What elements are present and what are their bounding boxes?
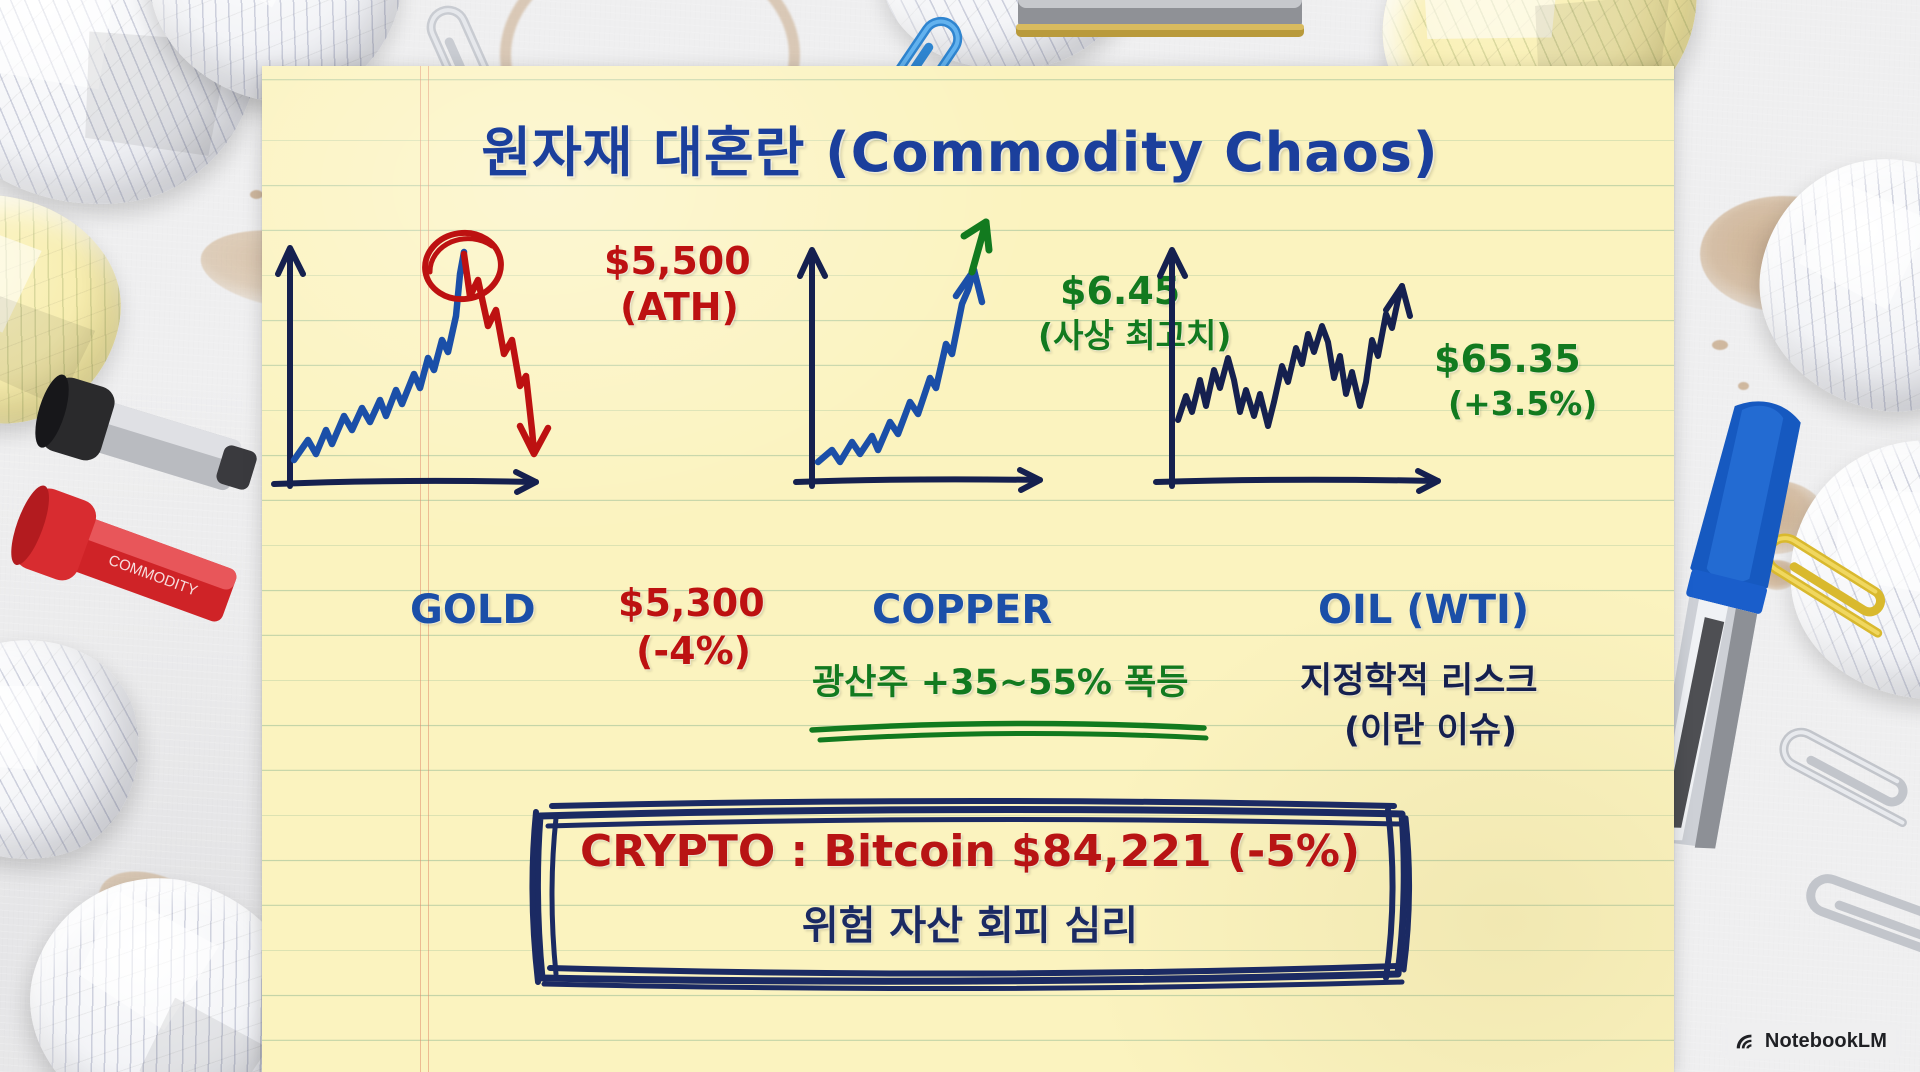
page-title: 원자재 대혼란 (Commodity Chaos): [0, 108, 1920, 187]
gold-secondary-note: (-4%): [636, 630, 751, 673]
gold-price-note: (ATH): [620, 286, 739, 329]
oil-caption-line2: (이란 이슈): [1344, 710, 1517, 752]
copper-caption-underline: [806, 714, 1216, 744]
crypto-headline: CRYPTO : Bitcoin $84,221 (-5%): [530, 826, 1410, 877]
screenshot-root: COMMODITY 원자재 대혼란 (Commodity Chaos) $5: [0, 0, 1920, 1072]
oil-price-line: [1178, 286, 1402, 426]
oil-caption-line1: 지정학적 리스크: [1300, 660, 1538, 702]
gold-x-axis: [274, 481, 536, 484]
crypto-callout-box: CRYPTO : Bitcoin $84,221 (-5%) 위험 자산 회피 …: [530, 798, 1410, 988]
coffee-droplet: [1712, 340, 1728, 350]
notebooklm-watermark: NotebookLM: [1722, 1023, 1902, 1060]
copper-x-axis: [796, 479, 1040, 482]
gold-price-line: [294, 252, 464, 460]
oil-ticker-label: OIL (WTI): [1318, 587, 1529, 633]
copper-ticker-label: COPPER: [872, 587, 1052, 633]
notebooklm-watermark-label: NotebookLM: [1765, 1030, 1887, 1053]
gold-price-value: $5,500: [604, 240, 751, 283]
oil-price-note: (+3.5%): [1448, 384, 1597, 424]
copper-price-line: [818, 270, 974, 462]
copper-caption: 광산주 +35~55% 폭등: [812, 662, 1189, 704]
clipboard-clip-icon: [1010, 0, 1310, 68]
oil-price-value: $65.35: [1434, 338, 1581, 381]
gold-crash-line: [464, 254, 534, 452]
notebooklm-icon: [1734, 1031, 1756, 1053]
oil-x-axis: [1156, 480, 1438, 482]
crypto-text-block: CRYPTO : Bitcoin $84,221 (-5%) 위험 자산 회피 …: [530, 826, 1410, 951]
crypto-subtext: 위험 자산 회피 심리: [530, 893, 1410, 951]
gold-secondary-price: $5,300: [618, 582, 765, 625]
notepad-margin-line: [420, 66, 429, 1072]
gold-ticker-label: GOLD: [410, 587, 536, 633]
